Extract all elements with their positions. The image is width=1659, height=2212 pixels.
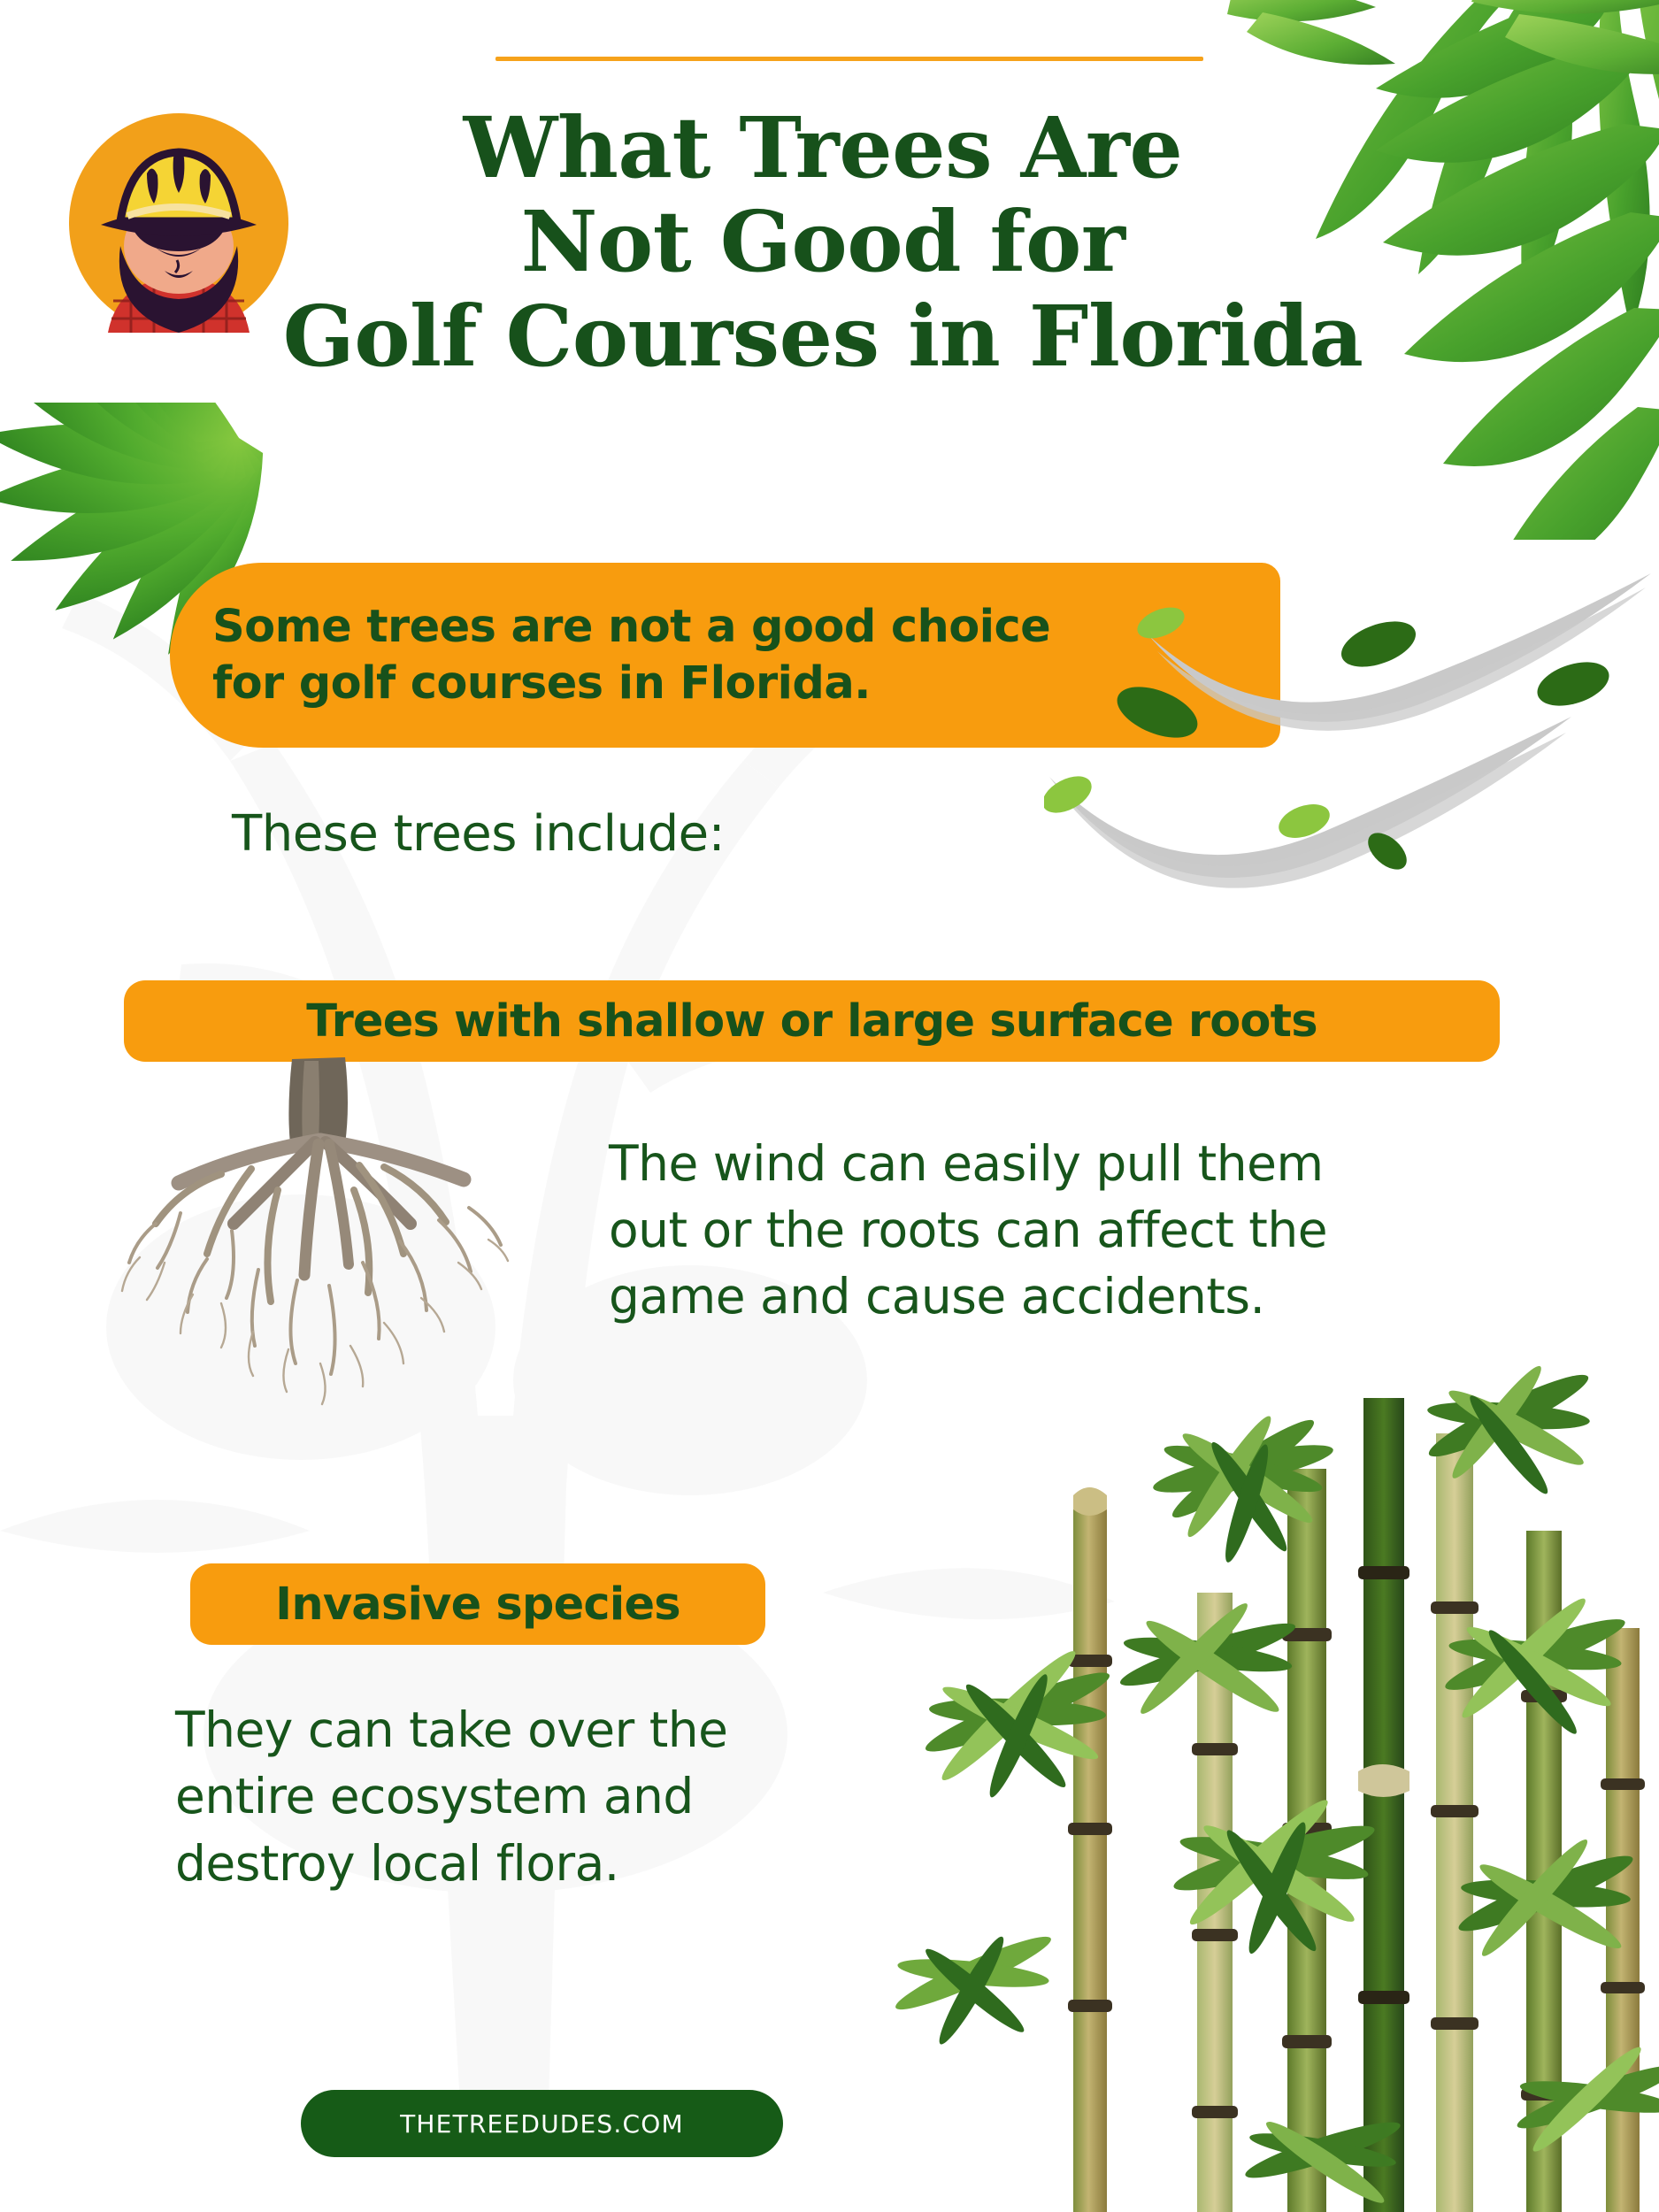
hero-line-2: for golf courses in Florida. xyxy=(212,657,871,710)
title-line-2: Not Good for xyxy=(204,196,1442,289)
roots-body-line-3: game and cause accidents. xyxy=(609,1268,1265,1325)
invasive-body-line-3: destroy local flora. xyxy=(175,1835,619,1892)
intro-text: These trees include: xyxy=(232,805,725,863)
tree-roots-image xyxy=(88,1057,549,1429)
invasive-body-line-1: They can take over the xyxy=(175,1701,727,1758)
infographic-page: What Trees Are Not Good for Golf Courses… xyxy=(0,0,1659,2212)
roots-body-line-2: out or the roots can affect the xyxy=(609,1202,1327,1258)
section-body-invasive-species: They can take over the entire ecosystem … xyxy=(175,1697,848,1897)
title-line-1: What Trees Are xyxy=(204,102,1442,196)
hero-line-1: Some trees are not a good choice xyxy=(212,601,1050,653)
section-tag-shallow-roots: Trees with shallow or large surface root… xyxy=(124,980,1500,1062)
header-rule xyxy=(495,57,1203,61)
title-line-3: Golf Courses in Florida xyxy=(204,290,1442,384)
roots-body-line-1: The wind can easily pull them xyxy=(609,1135,1324,1192)
section-tag-invasive-species: Invasive species xyxy=(190,1563,765,1645)
invasive-body-line-2: entire ecosystem and xyxy=(175,1768,694,1824)
hero-callout-text: Some trees are not a good choice for gol… xyxy=(212,599,1050,710)
bamboo-illustration-image xyxy=(827,1363,1659,2212)
page-title: What Trees Are Not Good for Golf Courses… xyxy=(204,102,1442,384)
website-footer-button[interactable]: THETREEDUDES.COM xyxy=(301,2090,783,2157)
wind-swirl-decoration-icon xyxy=(1044,566,1659,920)
section-body-shallow-roots: The wind can easily pull them out or the… xyxy=(609,1131,1458,1329)
